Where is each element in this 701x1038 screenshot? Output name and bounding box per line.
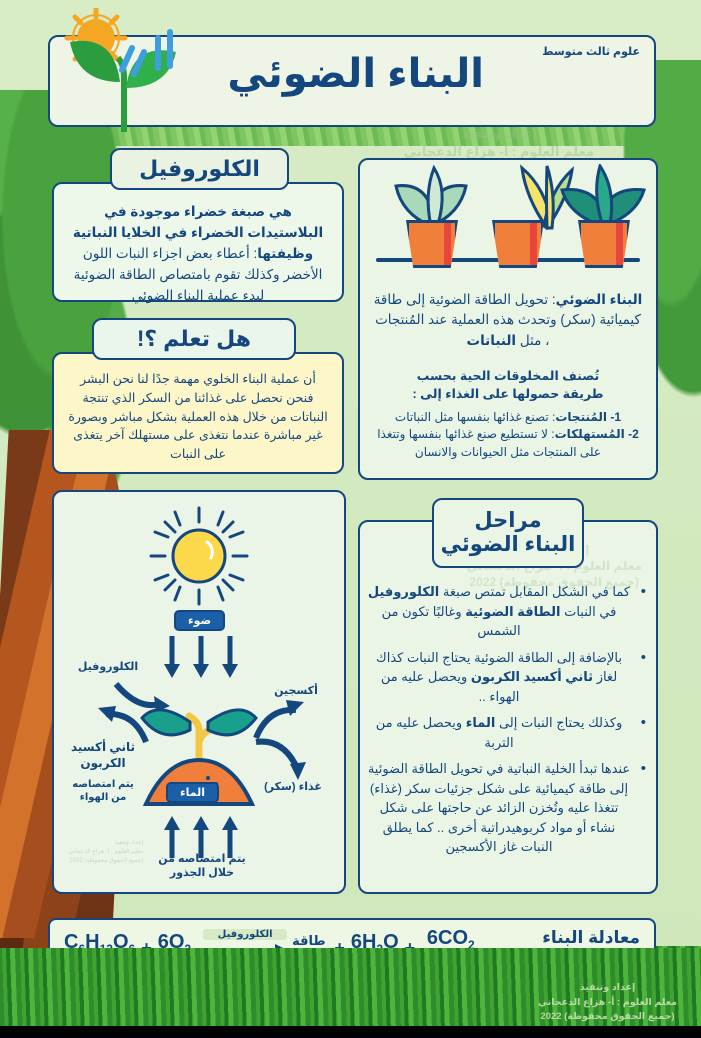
co2-note: يتم امتصاصه من الهواء — [66, 778, 140, 804]
stages-heading-line-1: مراحل — [474, 509, 541, 533]
chlorophyll-body: هي صبغة خضراء موجودة في البلاستيدات الخض… — [54, 184, 342, 315]
poster-root: البناء الضوئي علوم ثالث متوسط إعداد وتنف… — [0, 0, 701, 1038]
photosynthesis-diagram-card: إعداد وتنفيذ معلم العلوم : أ- هزاع الدعج… — [52, 490, 346, 894]
chlorophyll-card: هي صبغة خضراء موجودة في البلاستيدات الخض… — [52, 182, 344, 302]
catalyst-label: الكلوروفيل — [203, 929, 287, 940]
classification-line-2: طريقة حصولها على الغذاء إلى : — [360, 385, 656, 403]
photosynthesis-term: البناء الضوئي — [556, 292, 643, 307]
bullet-text: كما في الشكل المقابل تمتص صبغة — [439, 584, 630, 599]
photosynthesis-definition-card: البناء الضوئي: تحويل الطاقة الضوئية إلى … — [358, 158, 658, 480]
list-item: 2- المُستهلكات: لا تستطيع صنع غذائها بنف… — [370, 426, 646, 461]
formula-part: 6CO — [427, 927, 468, 949]
stages-heading-line-2: البناء الضوئي — [441, 533, 576, 557]
bullet-text: عندها تبدأ الخلية النباتية في تحويل الطا… — [368, 761, 630, 854]
list-item: 1- المُنتجات: تصنع غذائها بنفسها مثل الن… — [370, 409, 646, 426]
diagram-credit: إعداد وتنفيذ معلم العلوم : أ- هزاع الدعج… — [68, 839, 143, 866]
list-item: عندها تبدأ الخلية النباتية في تحويل الطا… — [366, 759, 632, 857]
did-you-know-text: أن عملية البناء الخلوي مهمة جدًا لنا نحن… — [54, 354, 342, 472]
energy-line-1: طاقة — [290, 934, 329, 948]
chlorophyll-diagram-label: الكلوروفيل — [68, 660, 148, 674]
bullet-mid: في النبات — [561, 604, 617, 619]
chlorophyll-heading: الكلوروفيل — [110, 148, 289, 190]
list-item-number: 2- — [628, 427, 639, 441]
chlorophyll-definition: هي صبغة خضراء موجودة في البلاستيدات الخض… — [73, 204, 323, 240]
bullet-text: وكذلك يحتاج النبات إلى — [495, 715, 622, 730]
list-item-number: 1- — [610, 410, 621, 424]
plant-pot-2 — [492, 220, 544, 268]
did-you-know-heading: هل تعلم ؟! — [92, 318, 296, 360]
water-label: الماء — [166, 782, 219, 803]
photosynthesis-definition-end: النباتات — [467, 333, 517, 348]
list-item-text: : تصنع غذائها بنفسها مثل النباتات — [395, 410, 555, 424]
bullet-bold: الماء — [466, 715, 496, 730]
bullet-bold: الكلوروفيل — [368, 584, 439, 599]
chlorophyll-function-row: وظيفتها: أعطاء بعض اجزاء النبات اللون ال… — [66, 244, 330, 307]
photosynthesis-definition-text: البناء الضوئي: تحويل الطاقة الضوئية إلى … — [360, 286, 656, 361]
plant-pot-3 — [578, 220, 630, 268]
light-arrows-icon — [162, 634, 240, 680]
bullet-bold: ثاني أكسيد الكربون — [471, 669, 593, 684]
bottom-black-bar — [0, 1026, 701, 1038]
list-item: وكذلك يحتاج النبات إلى الماء ويحصل عليه … — [366, 713, 632, 752]
co2-label: ثاني أكسيد الكربون — [64, 740, 142, 771]
sun-icon — [149, 506, 249, 606]
classification-list: 1- المُنتجات: تصنع غذائها بنفسها مثل الن… — [360, 409, 656, 461]
stages-list: كما في الشكل المقابل تمتص صبغة الكلوروفي… — [362, 582, 650, 857]
water-note: يتم امتصاصه من خلال الجذور — [150, 852, 254, 881]
did-you-know-card: أن عملية البناء الخلوي مهمة جدًا لنا نحن… — [52, 352, 344, 474]
list-item-term: المُنتجات — [555, 410, 607, 424]
stages-heading: مراحل البناء الضوئي — [432, 498, 584, 568]
oxygen-label: أكسجين — [260, 684, 332, 698]
light-label: ضوء — [174, 610, 225, 631]
list-item: كما في الشكل المقابل تمتص صبغة الكلوروفي… — [366, 582, 632, 641]
subject-label: علوم ثالث متوسط — [542, 45, 640, 58]
bullet-bold-2: الطاقة الضوئية — [465, 604, 560, 619]
plant-pot-1 — [406, 220, 458, 268]
page-title: البناء الضوئي — [227, 51, 484, 97]
food-arrow-icon — [252, 736, 310, 784]
footer-credit: إعداد وتنفيذ معلم العلوم : أ- هزاع الدعج… — [538, 981, 677, 1024]
classification-line-1: تُصنف المخلوقات الحية بحسب — [360, 367, 656, 385]
stages-card: إعداد وتنفيذ معلم العلوم : أ- هزاع الدعج… — [358, 520, 658, 894]
list-item: بالإضافة إلى الطاقة الضوئية يحتاج النبات… — [366, 648, 632, 707]
food-label: غذاء (سكر) — [250, 780, 336, 794]
three-potted-plants-illustration — [368, 170, 648, 282]
classification-intro: تُصنف المخلوقات الحية بحسب طريقة حصولها … — [360, 367, 656, 403]
chlorophyll-function-label: وظيفتها — [257, 246, 313, 261]
list-item-term: المُستهلكات — [555, 427, 625, 441]
header-illustration — [52, 8, 192, 138]
